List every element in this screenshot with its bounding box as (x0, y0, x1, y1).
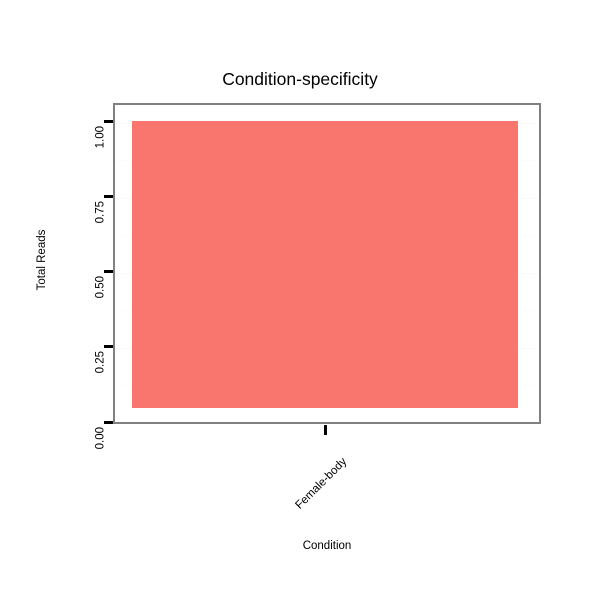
x-axis-title: Condition (113, 539, 541, 553)
y-tick-label-0-text: 0.00 (94, 427, 106, 449)
y-tick-mark-1 (104, 345, 113, 348)
y-tick-mark-0 (104, 421, 113, 424)
y-tick-label-1: 0.25 (0, 341, 100, 353)
bar-female-body[interactable] (132, 121, 518, 408)
chart-figure: Condition-specificity Total Reads 0.00 0… (0, 0, 600, 600)
x-tick-mark-0 (324, 425, 327, 435)
y-tick-label-3: 0.75 (0, 191, 100, 203)
y-tick-mark-3 (104, 195, 113, 198)
y-axis-title-label: Total Reads (35, 230, 49, 291)
gridline-0 (115, 423, 539, 424)
y-axis-title: Total Reads (33, 190, 51, 330)
y-tick-label-0: 0.00 (0, 417, 100, 429)
y-tick-label-1-text: 0.25 (94, 351, 106, 373)
y-tick-label-4-text: 1.00 (94, 126, 106, 148)
x-tick-label-0-text: Female-body (293, 455, 350, 512)
y-tick-label-3-text: 0.75 (94, 201, 106, 223)
y-tick-mark-4 (104, 120, 113, 123)
y-tick-label-4: 1.00 (0, 116, 100, 128)
y-tick-label-2-text: 0.50 (94, 276, 106, 298)
plot-area (115, 105, 539, 422)
plot-panel (113, 103, 541, 424)
y-tick-mark-2 (104, 270, 113, 273)
chart-title: Condition-specificity (0, 68, 600, 90)
y-tick-label-2: 0.50 (0, 266, 100, 278)
